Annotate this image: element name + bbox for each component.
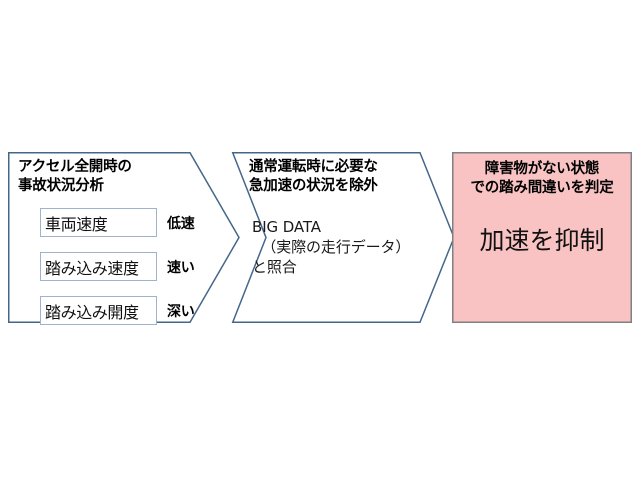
parameter-label-pedal-speed[interactable]: 踏み込み速度 xyxy=(40,252,157,281)
process-stage-3[interactable]: 障害物がない状態 での踏み間違いを判定 加速を抑制 xyxy=(452,152,632,323)
diagram-canvas: アクセル全開時の 事故状況分析 車両速度 低速 踏み込み速度 速い 踏み込み開度… xyxy=(0,0,640,480)
stage-1-title: アクセル全開時の 事故状況分析 xyxy=(18,158,132,196)
stage-2-title: 通常運転時に必要な 急加速の状況を除外 xyxy=(249,158,378,196)
parameter-value-pedal-speed: 速い xyxy=(167,257,195,277)
parameter-label-pedal-opening[interactable]: 踏み込み開度 xyxy=(40,296,157,325)
process-stage-1[interactable]: アクセル全開時の 事故状況分析 車両速度 低速 踏み込み速度 速い 踏み込み開度… xyxy=(8,152,240,323)
parameter-row[interactable]: 車両速度 低速 xyxy=(40,208,195,237)
stage-2-body-text: BIG DATA （実際の走行データ） と照合 xyxy=(252,217,410,277)
stage-3-result-text: 加速を抑制 xyxy=(452,226,632,256)
parameter-value-pedal-opening: 深い xyxy=(167,301,195,321)
process-stage-2[interactable]: 通常運転時に必要な 急加速の状況を除外 BIG DATA （実際の走行データ） … xyxy=(232,152,455,323)
parameter-label-vehicle-speed[interactable]: 車両速度 xyxy=(40,208,157,237)
stage-3-title: 障害物がない状態 での踏み間違いを判定 xyxy=(452,160,632,198)
parameter-value-vehicle-speed: 低速 xyxy=(167,213,195,233)
parameter-row[interactable]: 踏み込み速度 速い xyxy=(40,252,195,281)
parameter-row[interactable]: 踏み込み開度 深い xyxy=(40,296,195,325)
